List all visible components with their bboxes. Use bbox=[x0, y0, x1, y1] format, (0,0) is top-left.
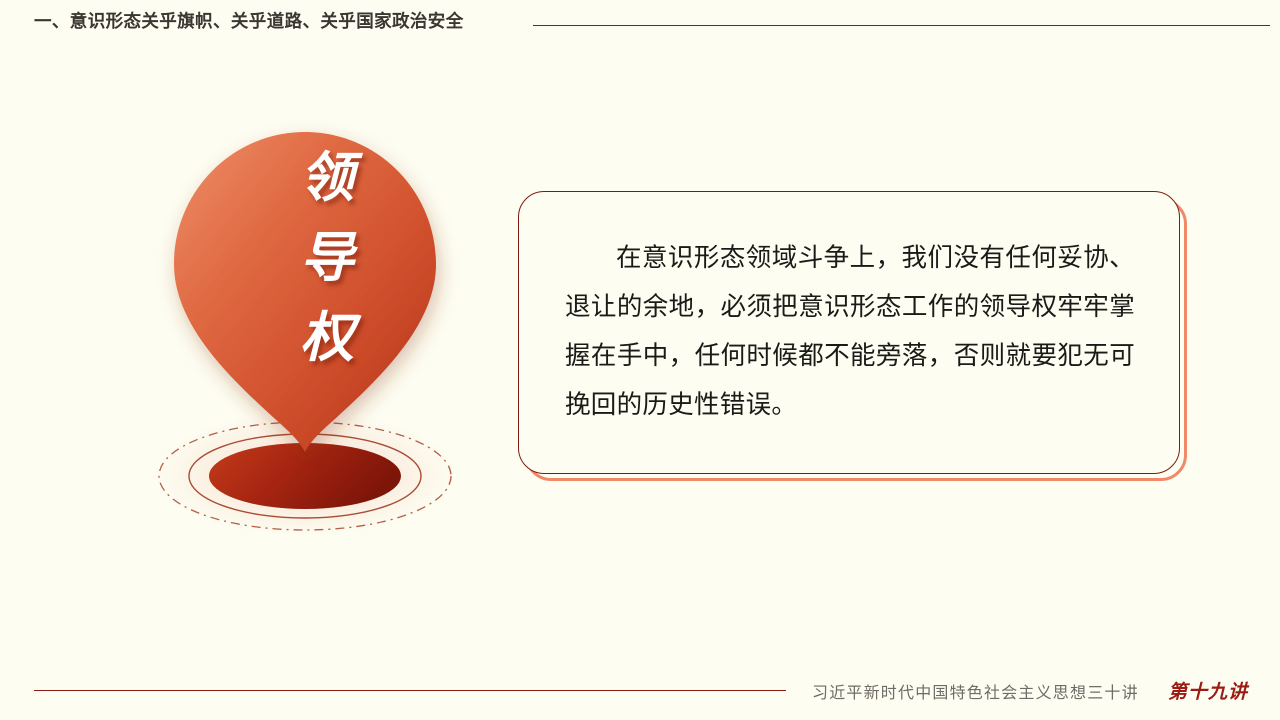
footer-series-title: 习近平新时代中国特色社会主义思想三十讲 bbox=[812, 679, 1139, 703]
page-title: 一、意识形态关乎旗帜、关乎道路、关乎国家政治安全 bbox=[34, 12, 464, 33]
footer-divider-line bbox=[34, 690, 786, 691]
header-divider-line bbox=[533, 25, 1270, 26]
slide-header: 一、意识形态关乎旗帜、关乎道路、关乎国家政治安全 bbox=[0, 0, 1280, 52]
quote-card-body: 在意识形态领域斗争上，我们没有任何妥协、退让的余地，必须把意识形态工作的领导权牢… bbox=[518, 191, 1180, 474]
quote-card: 在意识形态领域斗争上，我们没有任何妥协、退让的余地，必须把意识形态工作的领导权牢… bbox=[518, 191, 1180, 474]
footer-lecture-number: 第十九讲 bbox=[1168, 677, 1248, 704]
slide-canvas: 一、意识形态关乎旗帜、关乎道路、关乎国家政治安全 bbox=[0, 0, 1280, 720]
quote-text: 在意识形态领域斗争上，我们没有任何妥协、退让的余地，必须把意识形态工作的领导权牢… bbox=[565, 234, 1135, 430]
map-pin-icon bbox=[140, 118, 470, 538]
leadership-pin-graphic: 领 导 权 bbox=[140, 118, 470, 538]
slide-footer: 习近平新时代中国特色社会主义思想三十讲 第十九讲 bbox=[0, 668, 1280, 720]
